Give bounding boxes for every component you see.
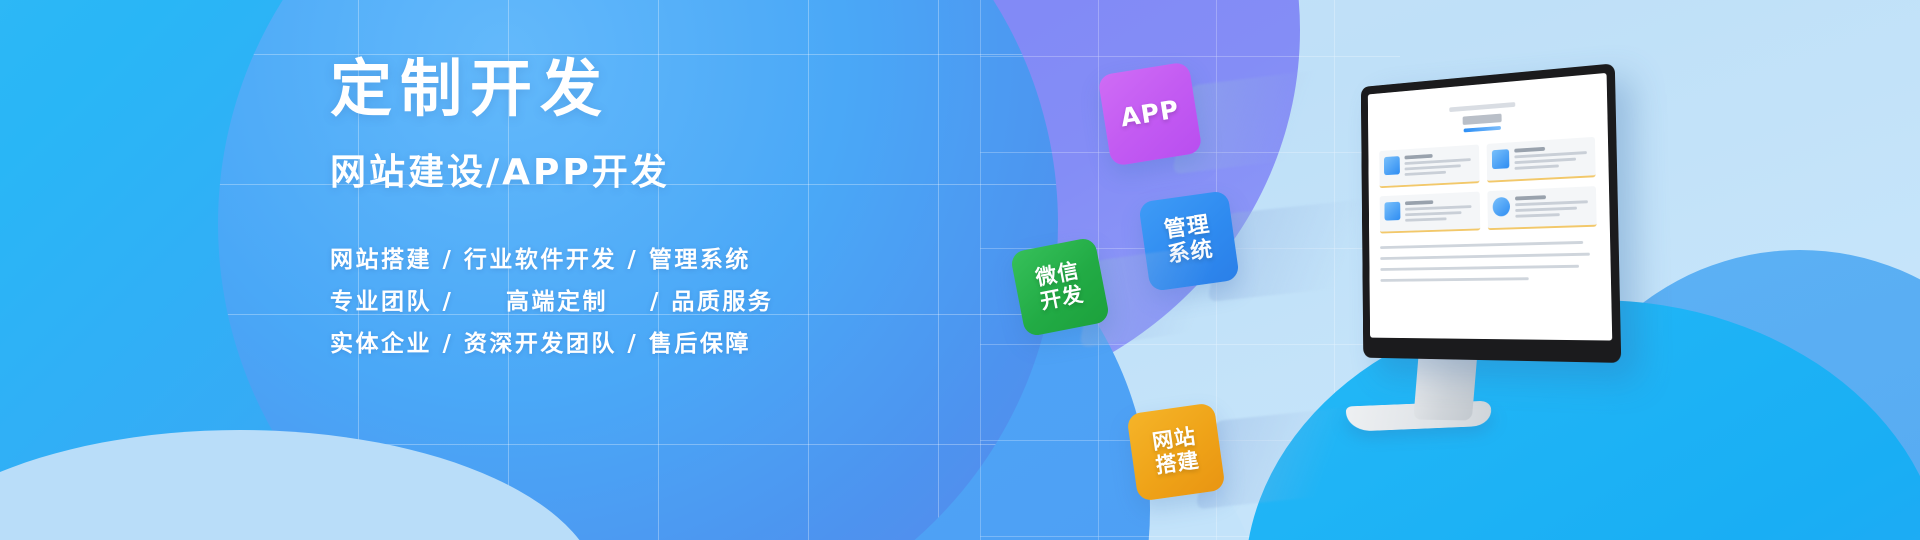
monitor-stand [1413, 349, 1477, 420]
tag-app-label: APP [1119, 96, 1182, 133]
screen-heading-bar [1463, 114, 1502, 125]
screen-brand-bar [1449, 102, 1515, 112]
tag-app[interactable]: APP [1097, 61, 1202, 166]
monitor-screen [1368, 73, 1612, 341]
feature-list: 网站搭建 / 行业软件开发 / 管理系统 专业团队 / 高端定制 / 品质服务 … [330, 239, 890, 365]
page-subtitle: 网站建设/APP开发 [330, 143, 890, 195]
page-title: 定制开发 [330, 56, 890, 121]
promo-banner: 定制开发 网站建设/APP开发 网站搭建 / 行业软件开发 / 管理系统 专业团… [0, 0, 1920, 540]
screen-accent-rule [1464, 126, 1501, 132]
screen-card [1486, 137, 1596, 183]
screen-card [1487, 186, 1597, 230]
feature-line-3: 实体企业 / 资深开发团队 / 售后保障 [330, 323, 890, 365]
feature-line-1: 网站搭建 / 行业软件开发 / 管理系统 [330, 239, 890, 281]
feature-line-2: 专业团队 / 高端定制 / 品质服务 [330, 281, 890, 323]
tag-website-build[interactable]: 网站 搭建 [1126, 402, 1225, 501]
card-icon [1384, 156, 1400, 175]
card-icon [1384, 202, 1400, 221]
headline-block: 定制开发 网站建设/APP开发 网站搭建 / 行业软件开发 / 管理系统 专业团… [330, 56, 890, 365]
tag-website-line2: 搭建 [1154, 449, 1201, 478]
tag-wechat-development[interactable]: 微信 开发 [1010, 237, 1111, 338]
screen-card-grid [1379, 137, 1597, 234]
desktop-monitor [1318, 62, 1638, 462]
screen-card [1379, 144, 1479, 188]
card-icon [1491, 149, 1509, 169]
card-icon [1492, 197, 1510, 217]
screen-card [1380, 192, 1480, 234]
monitor-frame [1361, 63, 1621, 363]
screen-paragraph [1380, 241, 1598, 282]
